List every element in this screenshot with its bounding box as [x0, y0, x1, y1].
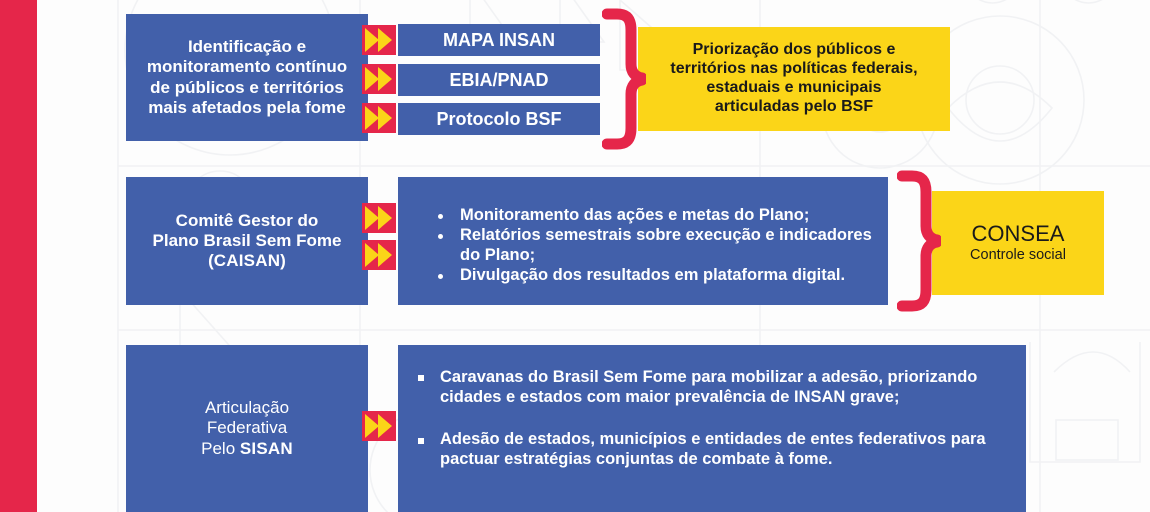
identificacao-line-2: monitoramento contínuo	[147, 57, 347, 77]
sisan-acronym: SISAN	[240, 439, 293, 458]
identificacao-line-1: Identificação e	[147, 37, 347, 57]
caravanas-box: Caravanas do Brasil Sem Fome para mobili…	[398, 345, 1026, 512]
identificacao-label: Identificação e monitoramento contínuo d…	[147, 37, 347, 117]
list-item: Relatórios semestrais sobre execução e i…	[430, 225, 876, 265]
comite-gestor-box: Comitê Gestor do Plano Brasil Sem Fome (…	[126, 177, 368, 305]
double-chevron-right-icon	[362, 103, 396, 133]
articulacao-line-1: Articulação	[201, 398, 293, 418]
identificacao-box: Identificação e monitoramento contínuo d…	[126, 14, 368, 141]
right-curly-brace-icon	[602, 8, 646, 150]
caravanas-bullet-list: Caravanas do Brasil Sem Fome para mobili…	[410, 367, 1012, 470]
priorizacao-line-4: articuladas pelo BSF	[670, 98, 917, 117]
monitoramento-box: Monitoramento das ações e metas do Plano…	[398, 177, 888, 305]
sub-box-mapa-insan-label: MAPA INSAN	[443, 30, 555, 51]
priorizacao-label: Priorização dos públicos e territórios n…	[670, 41, 917, 117]
articulacao-label: Articulação Federativa Pelo SISAN	[201, 398, 293, 458]
left-red-accent-bar	[0, 0, 37, 512]
double-chevron-right-icon	[362, 203, 396, 233]
sub-box-protocolo-bsf: Protocolo BSF	[398, 103, 600, 135]
sub-box-ebia-pnad-label: EBIA/PNAD	[449, 70, 548, 91]
double-chevron-right-icon	[362, 411, 396, 441]
priorizacao-line-3: estaduais e municipais	[670, 79, 917, 98]
double-chevron-right-icon	[362, 25, 396, 55]
identificacao-line-3: de públicos e territórios	[147, 78, 347, 98]
sub-box-protocolo-bsf-label: Protocolo BSF	[437, 109, 562, 130]
list-item: Monitoramento das ações e metas do Plano…	[430, 205, 876, 225]
identificacao-line-4: mais afetados pela fome	[147, 98, 347, 118]
double-chevron-right-icon	[362, 64, 396, 94]
double-chevron-right-icon	[362, 240, 396, 270]
list-item: Adesão de estados, municípios e entidade…	[410, 429, 1012, 469]
articulacao-federativa-box: Articulação Federativa Pelo SISAN	[126, 345, 368, 512]
list-item: Divulgação dos resultados em plataforma …	[430, 265, 876, 285]
monitoramento-bullet-list: Monitoramento das ações e metas do Plano…	[430, 205, 876, 286]
articulacao-line-2: Federativa	[201, 418, 293, 438]
priorizacao-line-2: territórios nas políticas federais,	[670, 60, 917, 79]
priorizacao-line-1: Priorização dos públicos e	[670, 41, 917, 60]
comite-gestor-label: Comitê Gestor do Plano Brasil Sem Fome (…	[153, 211, 342, 271]
sub-box-mapa-insan: MAPA INSAN	[398, 24, 600, 56]
comite-gestor-line-3: (CAISAN)	[153, 251, 342, 271]
comite-gestor-line-2: Plano Brasil Sem Fome	[153, 231, 342, 251]
right-curly-brace-icon	[897, 170, 941, 312]
sub-box-ebia-pnad: EBIA/PNAD	[398, 64, 600, 96]
consea-subtitle: Controle social	[970, 247, 1066, 264]
consea-outcome-box: CONSEA Controle social	[932, 191, 1104, 295]
consea-title: CONSEA	[970, 221, 1066, 247]
priorizacao-outcome-box: Priorização dos públicos e territórios n…	[638, 27, 950, 131]
list-item: Caravanas do Brasil Sem Fome para mobili…	[410, 367, 1012, 407]
comite-gestor-line-1: Comitê Gestor do	[153, 211, 342, 231]
slide-canvas: Identificação e monitoramento contínuo d…	[0, 0, 1150, 512]
caisan-acronym: CAISAN	[214, 251, 280, 270]
consea-label: CONSEA Controle social	[970, 221, 1066, 264]
articulacao-line-3: Pelo SISAN	[201, 439, 293, 459]
